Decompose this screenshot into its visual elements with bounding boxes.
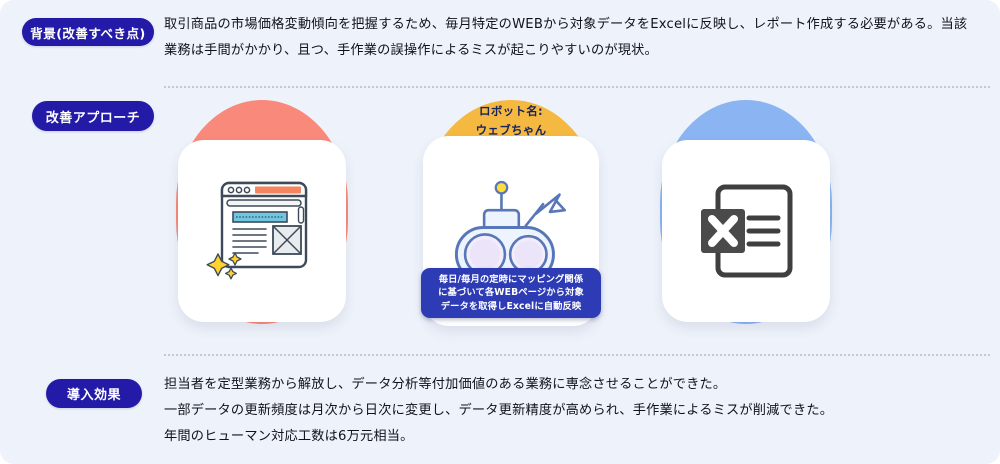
case-study-panel: 背景(改善すべき点) 取引商品の市場価格変動傾向を把握するため、毎月特定のWEB… [0, 0, 1000, 464]
card-surface-web [178, 140, 346, 322]
section-badge-effect: 導入効果 [46, 379, 142, 408]
approach-card-group: ロボット名: ウェブちゃん [164, 96, 990, 346]
effect-line-2: 一部データの更新頻度は月次から日次に変更し、データ更新精度が高められ、手作業によ… [164, 398, 992, 424]
robot-caption: 毎日/毎月の定時にマッピング関係 に基づいて各WEBページから対象 データを取得… [421, 268, 601, 319]
robot-name-line-2: ウェブちゃん [429, 121, 593, 140]
robot-name-label: ロボット名: ウェブちゃん [429, 102, 593, 140]
effect-line-3: 年間のヒューマン対応工数は6万元相当。 [164, 424, 992, 450]
section-badge-approach: 改善アプローチ [32, 101, 154, 131]
divider-bottom [164, 354, 990, 356]
divider-top [164, 86, 990, 88]
card-surface-excel [662, 140, 830, 322]
robot-caption-line-2: に基づいて各WEBページから対象 [427, 286, 595, 300]
excel-document-icon [681, 166, 811, 296]
background-description: 取引商品の市場価格変動傾向を把握するため、毎月特定のWEBから対象データをExc… [164, 12, 992, 64]
background-line-1: 取引商品の市場価格変動傾向を把握するため、毎月特定のWEBから対象データをExc… [164, 12, 992, 38]
robot-caption-line-3: データを取得しExcelに自動反映 [427, 300, 595, 314]
robot-name-line-1: ロボット名: [429, 102, 593, 121]
approach-card-excel [656, 96, 836, 346]
approach-card-web [172, 96, 352, 346]
robot-caption-line-1: 毎日/毎月の定時にマッピング関係 [427, 273, 595, 287]
effect-line-1: 担当者を定型業務から解放し、データ分析等付加価値のある業務に専念させることができ… [164, 372, 992, 398]
section-badge-background: 背景(改善すべき点) [22, 18, 154, 46]
approach-card-robot: ロボット名: ウェブちゃん [407, 96, 615, 346]
background-line-2: 業務は手間がかかり、且つ、手作業の誤操作によるミスが起こりやすいのが現状。 [164, 38, 992, 64]
browser-window-icon [197, 166, 327, 296]
effect-description: 担当者を定型業務から解放し、データ分析等付加価値のある業務に専念させることができ… [164, 372, 992, 450]
